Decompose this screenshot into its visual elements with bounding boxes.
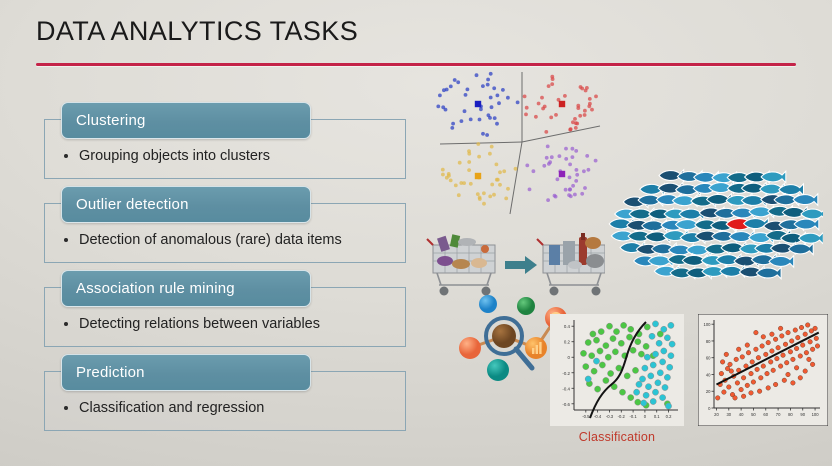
data-point bbox=[635, 399, 641, 405]
data-point bbox=[593, 358, 599, 364]
y-tick-label: -0.2 bbox=[562, 371, 570, 376]
cluster-point bbox=[550, 82, 554, 86]
page-title: DATA ANALYTICS TASKS bbox=[36, 16, 796, 47]
cluster-point bbox=[495, 122, 499, 126]
data-point bbox=[652, 389, 658, 395]
data-point bbox=[590, 331, 596, 337]
cluster-point bbox=[569, 194, 573, 198]
data-point bbox=[595, 386, 601, 392]
data-point bbox=[668, 353, 674, 359]
data-point bbox=[789, 339, 794, 344]
slide-canvas: DATA ANALYTICS TASKS Clustering Grouping… bbox=[0, 0, 832, 466]
data-point bbox=[661, 326, 667, 332]
data-point bbox=[798, 354, 803, 359]
task-list: Clustering Grouping objects into cluster… bbox=[44, 102, 406, 438]
cluster-point bbox=[495, 163, 499, 167]
data-point bbox=[728, 362, 733, 367]
cluster-points bbox=[436, 72, 598, 206]
cluster-point bbox=[502, 169, 506, 173]
cluster-point bbox=[525, 106, 529, 110]
bullet-dot-icon bbox=[64, 406, 68, 410]
data-point bbox=[750, 360, 755, 365]
cluster-point bbox=[490, 145, 494, 149]
data-point bbox=[764, 352, 769, 357]
data-point bbox=[771, 368, 776, 373]
data-point bbox=[648, 373, 654, 379]
x-tick-label: 60 bbox=[763, 412, 768, 417]
data-point bbox=[608, 370, 614, 376]
cluster-point bbox=[516, 101, 520, 105]
cluster-point bbox=[564, 157, 568, 161]
data-point bbox=[814, 336, 819, 341]
cluster-centroid bbox=[475, 101, 481, 107]
data-point bbox=[757, 389, 762, 394]
data-point bbox=[770, 332, 775, 337]
data-point bbox=[765, 371, 770, 376]
data-point bbox=[766, 340, 771, 345]
data-point bbox=[621, 322, 627, 328]
cluster-point bbox=[476, 192, 480, 196]
task-block-prediction: Prediction Classification and regression bbox=[44, 354, 406, 438]
data-point bbox=[794, 366, 799, 371]
data-point bbox=[804, 350, 809, 355]
y-tick-label: 60 bbox=[706, 356, 711, 361]
data-point bbox=[754, 347, 759, 352]
cluster-point bbox=[498, 170, 502, 174]
data-point bbox=[735, 381, 740, 386]
data-point bbox=[759, 376, 764, 381]
cluster-point bbox=[466, 88, 470, 92]
cluster-point bbox=[551, 77, 555, 81]
data-point bbox=[638, 351, 644, 357]
data-point bbox=[583, 364, 589, 370]
data-point bbox=[660, 395, 666, 401]
data-point bbox=[667, 364, 673, 370]
data-point bbox=[808, 340, 813, 345]
cluster-scatter-svg bbox=[430, 64, 630, 224]
cluster-point bbox=[580, 192, 584, 196]
cluster-point bbox=[582, 169, 586, 173]
data-point bbox=[635, 339, 641, 345]
data-point bbox=[619, 389, 625, 395]
data-point bbox=[628, 395, 634, 401]
cluster-point bbox=[564, 147, 568, 151]
cluster-point bbox=[447, 172, 451, 176]
cluster-point bbox=[554, 113, 558, 117]
y-tick-label: 20 bbox=[706, 389, 711, 394]
data-point bbox=[591, 368, 597, 374]
cluster-point bbox=[573, 117, 577, 121]
cluster-point bbox=[568, 163, 572, 167]
task-bullet-text: Grouping objects into clusters bbox=[79, 148, 270, 164]
shopping-cart-right-icon bbox=[537, 233, 605, 296]
data-point bbox=[603, 377, 609, 383]
cluster-point bbox=[575, 122, 579, 126]
data-point bbox=[628, 326, 634, 332]
cluster-point bbox=[458, 161, 462, 165]
cluster-point bbox=[568, 128, 572, 132]
data-point bbox=[778, 364, 783, 369]
cluster-point bbox=[523, 95, 527, 99]
data-point bbox=[598, 329, 604, 335]
cluster-point bbox=[489, 96, 493, 100]
data-point bbox=[733, 396, 738, 401]
cluster-point bbox=[534, 115, 538, 119]
task-bullet-row: Classification and regression bbox=[64, 400, 264, 416]
fish-group bbox=[609, 170, 823, 279]
data-point bbox=[745, 343, 750, 348]
data-point bbox=[612, 349, 618, 355]
data-point bbox=[784, 360, 789, 365]
cluster-point bbox=[498, 183, 502, 187]
cluster-point bbox=[573, 193, 577, 197]
data-point bbox=[599, 362, 605, 368]
cluster-boundary-lines bbox=[440, 72, 600, 214]
data-point bbox=[661, 348, 667, 354]
data-point bbox=[786, 330, 791, 335]
task-header-association-rule-mining[interactable]: Association rule mining bbox=[61, 270, 311, 307]
task-header-clustering[interactable]: Clustering bbox=[61, 102, 311, 139]
cluster-point bbox=[571, 120, 575, 124]
cluster-point bbox=[476, 142, 480, 146]
x-tick-label: -0.1 bbox=[629, 414, 637, 419]
data-point bbox=[734, 357, 739, 362]
data-point bbox=[669, 341, 675, 347]
cluster-point bbox=[456, 80, 460, 84]
cluster-point bbox=[492, 86, 496, 90]
task-bullet-text: Classification and regression bbox=[79, 400, 264, 416]
cluster-point bbox=[444, 108, 448, 112]
data-point bbox=[650, 398, 656, 404]
data-point bbox=[803, 369, 808, 374]
cluster-point bbox=[532, 169, 536, 173]
mini-charts-group: 0.40.20-0.2-0.4-0.6-0.5-0.4-0.3-0.2-0.10… bbox=[550, 314, 828, 462]
cluster-point bbox=[493, 116, 497, 120]
cluster-point bbox=[467, 152, 471, 156]
data-point bbox=[794, 346, 799, 351]
task-header-outlier-detection[interactable]: Outlier detection bbox=[61, 186, 311, 223]
cluster-point bbox=[486, 78, 490, 82]
data-point bbox=[613, 329, 619, 335]
x-tick-label: 30 bbox=[726, 412, 731, 417]
data-point bbox=[624, 373, 630, 379]
data-point bbox=[766, 386, 771, 391]
data-point bbox=[589, 353, 595, 359]
y-tick-label: 80 bbox=[706, 339, 711, 344]
cluster-point bbox=[571, 155, 575, 159]
cluster-point bbox=[436, 105, 440, 109]
task-header-label: Association rule mining bbox=[62, 280, 235, 297]
data-point bbox=[606, 323, 612, 329]
cluster-point bbox=[453, 78, 457, 82]
cluster-point bbox=[587, 168, 591, 172]
data-point bbox=[657, 370, 663, 376]
data-point bbox=[660, 359, 666, 365]
cluster-point bbox=[524, 113, 528, 117]
cluster-point bbox=[575, 173, 579, 177]
cluster-point bbox=[490, 105, 494, 109]
cluster-point bbox=[547, 84, 551, 88]
y-tick-label: 0.2 bbox=[564, 340, 571, 345]
data-point bbox=[724, 352, 729, 357]
data-point bbox=[655, 380, 661, 386]
data-point bbox=[645, 384, 651, 390]
cluster-point bbox=[449, 179, 453, 183]
cluster-point bbox=[563, 94, 567, 98]
data-point bbox=[761, 335, 766, 340]
cluster-point bbox=[460, 119, 464, 123]
shopping-cart-left-icon bbox=[427, 234, 495, 295]
data-point bbox=[815, 344, 820, 349]
cluster-point bbox=[457, 193, 461, 197]
cluster-point bbox=[558, 154, 562, 158]
data-point bbox=[639, 376, 645, 382]
cluster-point bbox=[489, 72, 493, 76]
fish-school-outlier bbox=[605, 167, 823, 289]
x-tick-label: -0.3 bbox=[606, 414, 614, 419]
cluster-point bbox=[477, 155, 481, 159]
data-point bbox=[642, 365, 648, 371]
data-point bbox=[740, 355, 745, 360]
cluster-point bbox=[576, 104, 580, 108]
cluster-point bbox=[575, 168, 579, 172]
data-point bbox=[741, 394, 746, 399]
cluster-point bbox=[568, 176, 572, 180]
data-point bbox=[585, 376, 591, 382]
cluster-point bbox=[574, 149, 578, 153]
cluster-point bbox=[584, 89, 588, 93]
task-header-label: Prediction bbox=[62, 364, 145, 381]
cluster-point bbox=[495, 178, 499, 182]
task-bullet-text: Detecting relations between variables bbox=[79, 316, 320, 332]
data-point bbox=[644, 354, 650, 360]
cluster-point bbox=[553, 194, 557, 198]
cluster-point bbox=[588, 102, 592, 106]
data-point bbox=[727, 385, 732, 390]
data-point bbox=[775, 356, 780, 361]
data-point bbox=[761, 364, 766, 369]
data-point bbox=[722, 390, 727, 395]
task-header-prediction[interactable]: Prediction bbox=[61, 354, 311, 391]
x-tick-label: -0.4 bbox=[594, 414, 602, 419]
task-block-outlier-detection: Outlier detection Detection of anomalous… bbox=[44, 186, 406, 270]
cluster-point bbox=[594, 95, 598, 99]
data-point bbox=[745, 383, 750, 388]
data-point bbox=[783, 342, 788, 347]
data-point bbox=[597, 348, 603, 354]
x-tick-label: 0.1 bbox=[654, 414, 660, 419]
cluster-point bbox=[594, 159, 598, 163]
data-point bbox=[751, 380, 756, 385]
cluster-point bbox=[585, 154, 589, 158]
data-point bbox=[754, 330, 759, 335]
cluster-point bbox=[588, 97, 592, 101]
data-point bbox=[749, 391, 754, 396]
data-point bbox=[652, 351, 658, 357]
classification-chart: 0.40.20-0.2-0.4-0.6-0.5-0.4-0.3-0.2-0.10… bbox=[550, 314, 684, 431]
task-bullet-row: Detecting relations between variables bbox=[64, 316, 320, 332]
association-arrow-icon bbox=[505, 256, 537, 274]
cluster-point bbox=[514, 167, 518, 171]
cluster-point bbox=[501, 88, 505, 92]
y-tick-label: 0.4 bbox=[564, 324, 571, 329]
cluster-point bbox=[580, 87, 584, 91]
regression-chart-svg: 0204060801002030405060708090100 bbox=[698, 314, 828, 426]
cluster-point bbox=[506, 96, 510, 100]
regression-chart: 0204060801002030405060708090100 Regressi… bbox=[698, 314, 828, 431]
cluster-point bbox=[487, 113, 491, 117]
cluster-point bbox=[504, 197, 508, 201]
cluster-point bbox=[469, 118, 473, 122]
bullet-dot-icon bbox=[64, 238, 68, 242]
data-point bbox=[650, 362, 656, 368]
cluster-point bbox=[488, 152, 492, 156]
cluster-point bbox=[481, 84, 485, 88]
cluster-centroid bbox=[559, 171, 565, 177]
task-bullet-text: Detection of anomalous (rare) data items bbox=[79, 232, 342, 248]
data-point bbox=[741, 376, 746, 381]
x-tick-label: 50 bbox=[751, 412, 756, 417]
data-point bbox=[770, 349, 775, 354]
cluster-point bbox=[571, 184, 575, 188]
cluster-point bbox=[445, 88, 449, 92]
cluster-point bbox=[441, 173, 445, 177]
data-point bbox=[720, 360, 725, 365]
data-point bbox=[664, 374, 670, 380]
cluster-point bbox=[590, 108, 594, 112]
cluster-point bbox=[574, 179, 578, 183]
data-point bbox=[799, 325, 804, 330]
cluster-point bbox=[525, 164, 529, 168]
x-tick-label: 100 bbox=[812, 412, 820, 417]
bullet-dot-icon bbox=[64, 322, 68, 326]
x-tick-label: 40 bbox=[739, 412, 744, 417]
cluster-point bbox=[449, 85, 453, 89]
data-point bbox=[636, 381, 642, 387]
cluster-point bbox=[528, 188, 532, 192]
cluster-centroid bbox=[559, 101, 565, 107]
data-point bbox=[810, 362, 815, 367]
data-point bbox=[791, 357, 796, 362]
cluster-point bbox=[544, 130, 548, 134]
cluster-point bbox=[583, 109, 587, 113]
bullet-dot-icon bbox=[64, 154, 68, 158]
cluster-point bbox=[467, 160, 471, 164]
data-point bbox=[644, 324, 650, 330]
data-point bbox=[719, 371, 724, 376]
data-point bbox=[760, 344, 765, 349]
cluster-scatter-diagram bbox=[430, 64, 630, 224]
data-point bbox=[786, 372, 791, 377]
data-point bbox=[800, 343, 805, 348]
data-point bbox=[773, 337, 778, 342]
cluster-point bbox=[486, 83, 490, 87]
task-header-label: Clustering bbox=[62, 112, 146, 129]
data-point bbox=[782, 378, 787, 383]
cluster-point bbox=[578, 114, 582, 118]
data-point bbox=[781, 353, 786, 358]
data-point bbox=[796, 335, 801, 340]
cluster-point bbox=[571, 147, 575, 151]
cluster-point bbox=[550, 155, 554, 159]
cluster-point bbox=[549, 116, 553, 120]
cluster-point bbox=[492, 193, 496, 197]
cluster-point bbox=[546, 145, 550, 149]
data-point bbox=[807, 357, 812, 362]
imagery-panel: 0.40.20-0.2-0.4-0.6-0.5-0.4-0.3-0.2-0.10… bbox=[420, 62, 832, 466]
cluster-point bbox=[490, 183, 494, 187]
cluster-point bbox=[488, 195, 492, 199]
data-point bbox=[768, 360, 773, 365]
cluster-point bbox=[543, 105, 547, 109]
data-point bbox=[634, 389, 640, 395]
classification-caption: Classification bbox=[550, 430, 684, 444]
y-tick-label: -0.6 bbox=[562, 402, 570, 407]
data-point bbox=[791, 381, 796, 386]
data-point bbox=[813, 326, 818, 331]
x-tick-label: 90 bbox=[800, 412, 805, 417]
cluster-point bbox=[545, 156, 549, 160]
data-point bbox=[641, 400, 647, 406]
cluster-point bbox=[450, 126, 454, 130]
y-tick-label: 100 bbox=[704, 322, 712, 327]
cluster-point bbox=[475, 73, 479, 77]
data-point bbox=[649, 333, 655, 339]
data-point bbox=[778, 326, 783, 331]
cluster-point bbox=[464, 93, 468, 97]
cluster-point bbox=[469, 182, 473, 186]
title-area: DATA ANALYTICS TASKS bbox=[36, 16, 796, 47]
cluster-point bbox=[481, 132, 485, 136]
cluster-point bbox=[506, 187, 510, 191]
task-block-clustering: Clustering Grouping objects into cluster… bbox=[44, 102, 406, 186]
fish-school-svg bbox=[605, 167, 823, 289]
cluster-point bbox=[478, 197, 482, 201]
cluster-point bbox=[454, 184, 458, 188]
cluster-point bbox=[568, 188, 572, 192]
cluster-point bbox=[497, 101, 501, 105]
y-tick-label: 40 bbox=[706, 372, 711, 377]
task-bullet-row: Detection of anomalous (rare) data items bbox=[64, 232, 342, 248]
data-point bbox=[632, 367, 638, 373]
x-tick-label: -0.5 bbox=[582, 414, 590, 419]
data-point bbox=[664, 335, 670, 341]
x-tick-label: 20 bbox=[714, 412, 719, 417]
cluster-point bbox=[556, 177, 560, 181]
data-point bbox=[656, 340, 662, 346]
data-point bbox=[773, 382, 778, 387]
data-point bbox=[746, 350, 751, 355]
data-point bbox=[749, 371, 754, 376]
cluster-point bbox=[445, 176, 449, 180]
cluster-point bbox=[459, 181, 463, 185]
fish-icon bbox=[756, 267, 781, 278]
data-point bbox=[780, 334, 785, 339]
cluster-point bbox=[542, 164, 546, 168]
y-tick-label: -0.4 bbox=[562, 386, 570, 391]
data-point bbox=[810, 347, 815, 352]
task-header-label: Outlier detection bbox=[62, 196, 189, 213]
data-point bbox=[610, 336, 616, 342]
cluster-point bbox=[451, 122, 455, 126]
data-point bbox=[603, 343, 609, 349]
data-point bbox=[798, 376, 803, 381]
cluster-point bbox=[463, 109, 467, 113]
data-point bbox=[803, 332, 808, 337]
x-tick-label: 0.2 bbox=[666, 414, 672, 419]
x-tick-label: -0.2 bbox=[618, 414, 626, 419]
cluster-point bbox=[482, 202, 486, 206]
